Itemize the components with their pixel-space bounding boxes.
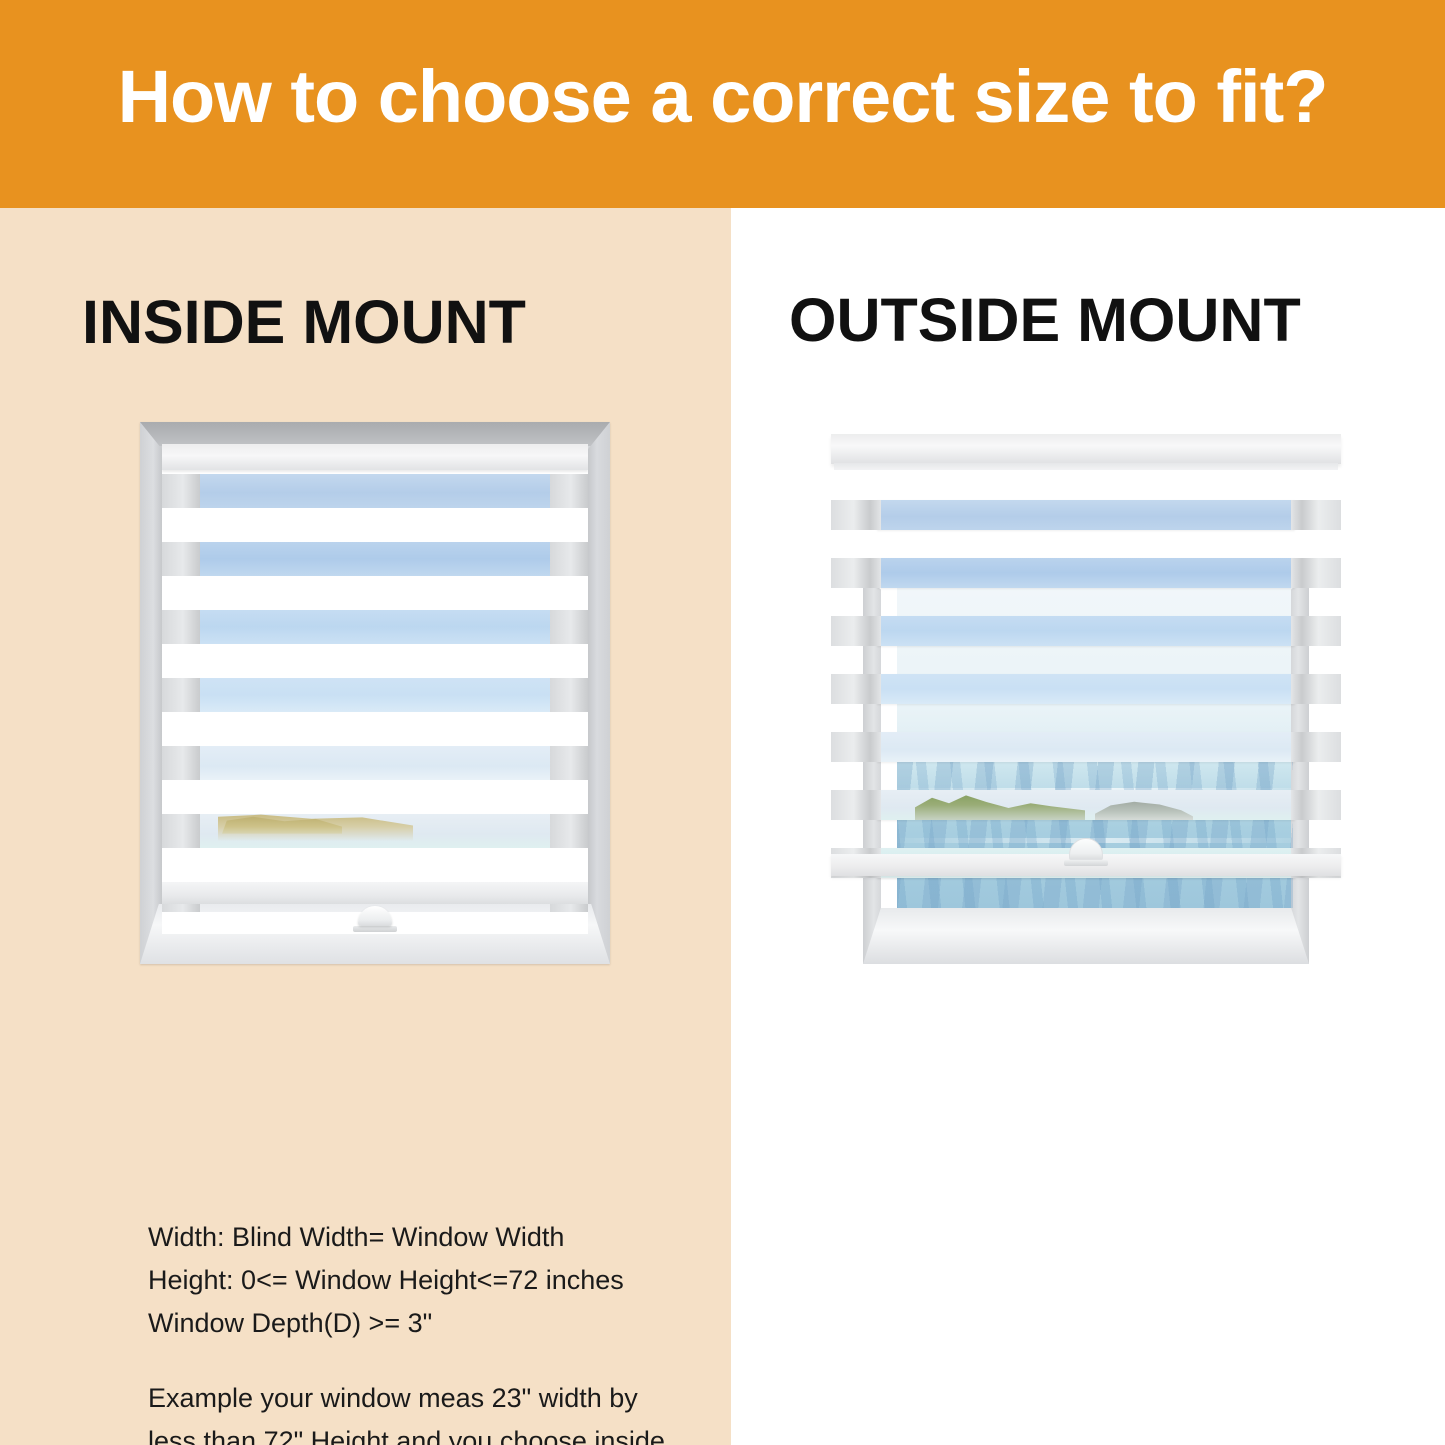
- spec-line: Height: 0<= Window Height<=72 inches: [148, 1259, 693, 1302]
- blind-carrier-right: [1291, 500, 1341, 530]
- blind-pull-slot: [353, 926, 397, 932]
- blind-slat: [162, 542, 588, 576]
- window-top-reveal: [140, 422, 610, 446]
- blind-carrier-left: [162, 542, 200, 576]
- blind-pull-slot: [1064, 860, 1108, 866]
- blind-carrier-left: [831, 500, 881, 530]
- example-line: Example your window meas 23" width by: [148, 1377, 693, 1420]
- blind-sheer-band: [162, 712, 588, 746]
- blind-carrier-right: [550, 746, 588, 780]
- blind-slat-band: [877, 500, 1295, 530]
- scenery-band: [877, 616, 1295, 646]
- window-sill: [863, 908, 1309, 964]
- inside-mount-copy: Width: Blind Width= Window Width Height:…: [148, 1216, 693, 1445]
- inside-mount-window-illustration: [140, 422, 610, 964]
- blind-slat: [831, 616, 1341, 646]
- blind-carrier-left: [831, 732, 881, 762]
- outside-mount-window-illustration: [831, 422, 1341, 964]
- blind-carrier-left: [831, 674, 881, 704]
- blind-carrier-right: [550, 474, 588, 508]
- blind-sheer-band: [162, 508, 588, 542]
- outside-mount-panel: OUTSIDE MOUNT: [731, 208, 1445, 1445]
- blind-carrier-right: [550, 610, 588, 644]
- blind-bottom-rail: [162, 882, 588, 904]
- blind-carrier-left: [162, 746, 200, 780]
- window-right-jamb: [588, 422, 610, 964]
- blind-slat: [162, 610, 588, 644]
- blind-carrier-right: [1291, 790, 1341, 820]
- blind-carrier-right: [550, 542, 588, 576]
- blind-carrier-right: [550, 814, 588, 848]
- inside-mount-heading: INSIDE MOUNT: [82, 292, 526, 353]
- window-left-jamb: [140, 422, 162, 964]
- example-line: less than 72" Height and you choose insi…: [148, 1420, 693, 1445]
- scenery-band: [877, 732, 1295, 762]
- inside-mount-specs: Width: Blind Width= Window Width Height:…: [148, 1216, 693, 1345]
- blind-slat: [831, 558, 1341, 588]
- blind-slat: [831, 790, 1341, 820]
- blind-slat-band: [877, 732, 1295, 762]
- blind-carrier-left: [162, 814, 200, 848]
- blind-carrier-right: [1291, 558, 1341, 588]
- blind-sheer-band: [162, 848, 588, 882]
- blind-carrier-left: [162, 474, 200, 508]
- outside-mount-heading: OUTSIDE MOUNT: [789, 290, 1301, 351]
- blind-slat: [831, 500, 1341, 530]
- spec-line: Window Depth(D) >= 3": [148, 1302, 693, 1345]
- blind-carrier-left: [162, 610, 200, 644]
- page-title: How to choose a correct size to fit?: [0, 0, 1445, 208]
- inside-mount-panel: INSIDE MOUNT: [0, 208, 731, 1445]
- blind-carrier-right: [1291, 616, 1341, 646]
- blind-carrier-right: [1291, 732, 1341, 762]
- inside-mount-example: Example your window meas 23" width by le…: [148, 1377, 693, 1445]
- blind-sheer-band: [162, 780, 588, 814]
- infographic-page: How to choose a correct size to fit? INS…: [0, 0, 1445, 1445]
- wave-texture: [897, 762, 1293, 908]
- blind-carrier-left: [831, 616, 881, 646]
- blind-carrier-left: [831, 558, 881, 588]
- blind-slat: [162, 746, 588, 780]
- spec-line: Width: Blind Width= Window Width: [148, 1216, 693, 1259]
- blind-carrier-right: [550, 678, 588, 712]
- blind-sheer-band: [162, 644, 588, 678]
- scenery-band: [877, 500, 1295, 530]
- blind-slat: [831, 732, 1341, 762]
- blind-slat-band: [877, 616, 1295, 646]
- scenery-band: [877, 558, 1295, 588]
- blind-carrier-right: [1291, 674, 1341, 704]
- blind-slat: [162, 474, 588, 508]
- blind-headrail: [831, 434, 1341, 464]
- blind-carrier-left: [162, 678, 200, 712]
- blind-slat-band: [877, 674, 1295, 704]
- blind-headrail: [162, 444, 588, 470]
- blind-carrier-left: [831, 790, 881, 820]
- sea-scenery: [897, 762, 1293, 908]
- blind-slat: [831, 674, 1341, 704]
- window-opening: [162, 444, 588, 934]
- blind-slat: [162, 678, 588, 712]
- blind-slat-band: [877, 790, 1295, 820]
- header-banner: How to choose a correct size to fit?: [0, 0, 1445, 208]
- blind-sheer-band: [162, 576, 588, 610]
- blind-slat-band: [877, 558, 1295, 588]
- blind-slat: [162, 814, 588, 848]
- scenery-band: [877, 674, 1295, 704]
